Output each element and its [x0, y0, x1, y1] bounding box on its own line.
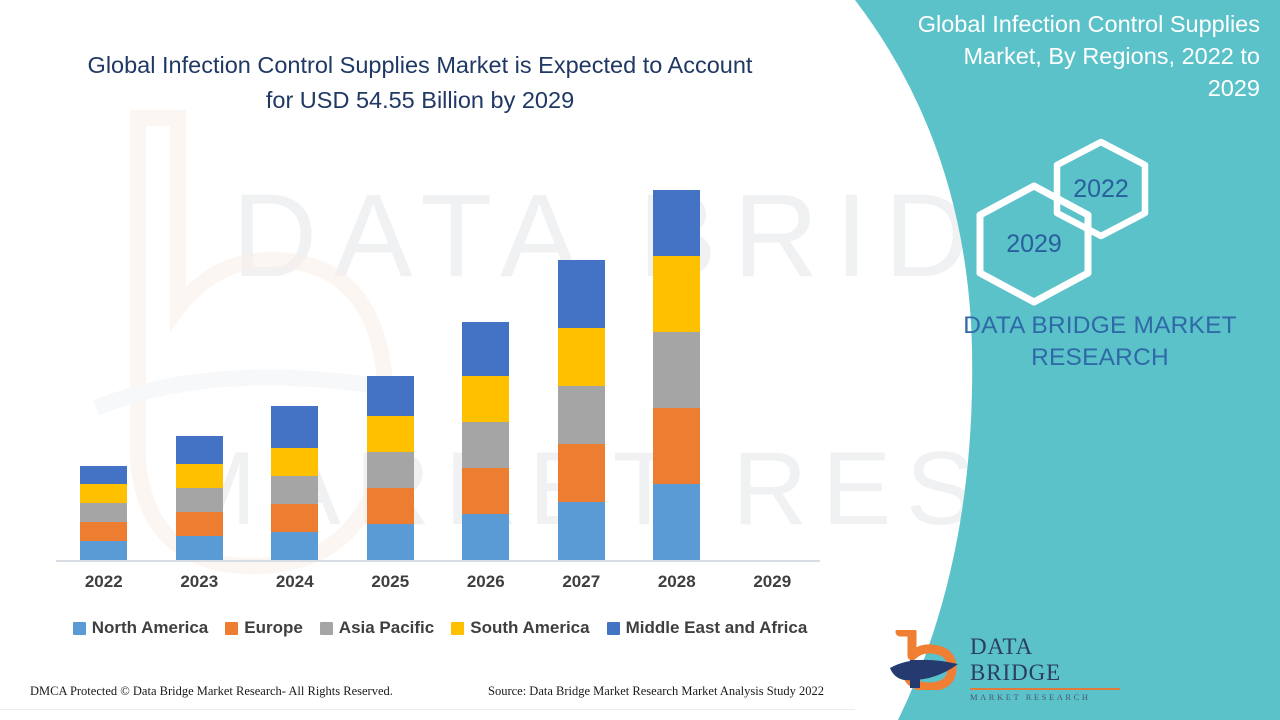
bar-segment: [271, 448, 318, 476]
bar-segment: [558, 386, 605, 444]
legend-swatch-icon: [73, 622, 86, 635]
legend-swatch-icon: [451, 622, 464, 635]
bar-segment: [367, 416, 414, 452]
bar-segment: [462, 514, 509, 560]
logo-name-bottom: MARKET RESEARCH: [970, 692, 1120, 702]
infographic-canvas: DATA BRIDGE MARKET RESEARCH Global Infec…: [0, 0, 1280, 720]
legend-swatch-icon: [320, 622, 333, 635]
bar-segment: [271, 406, 318, 448]
hexagon-badge-start-year: 2022: [1053, 138, 1149, 240]
bar-segment: [176, 512, 223, 536]
bar-column: [367, 376, 414, 560]
footer-divider: [0, 709, 855, 710]
bar-segment: [462, 322, 509, 376]
data-bridge-logo: DATA BRIDGE MARKET RESEARCH: [888, 630, 1118, 692]
brand-name-panel: DATA BRIDGE MARKET RESEARCH: [940, 310, 1260, 374]
bar-segment: [80, 522, 127, 541]
x-axis-label-2022: 2022: [56, 572, 152, 592]
x-axis-label-2024: 2024: [247, 572, 343, 592]
bar-segment: [558, 502, 605, 560]
x-axis-label-2027: 2027: [534, 572, 630, 592]
legend-item[interactable]: Europe: [225, 618, 303, 638]
bar-segment: [80, 484, 127, 503]
legend-label: North America: [92, 618, 209, 638]
bar-column: [80, 466, 127, 560]
chart-title: Global Infection Control Supplies Market…: [80, 48, 760, 118]
stacked-bar-series: [56, 150, 820, 560]
x-axis-line: [56, 560, 820, 562]
bar-segment: [653, 256, 700, 332]
bar-segment: [271, 504, 318, 532]
bar-segment: [558, 328, 605, 386]
logo-b-mark-icon: [888, 630, 962, 690]
bar-segment: [80, 541, 127, 560]
bar-segment: [367, 488, 414, 524]
legend-label: Asia Pacific: [339, 618, 434, 638]
x-axis-label-2029: 2029: [725, 572, 821, 592]
bar-segment: [367, 452, 414, 488]
x-axis-label-2025: 2025: [343, 572, 439, 592]
brand-line-2: RESEARCH: [940, 342, 1260, 374]
logo-name-top: DATA BRIDGE: [970, 634, 1120, 686]
bar-segment: [176, 536, 223, 560]
x-axis-tick-labels: 20222023202420252026202720282029: [56, 572, 820, 602]
bar-segment: [558, 260, 605, 328]
legend-item[interactable]: South America: [451, 618, 589, 638]
x-axis-label-2026: 2026: [438, 572, 534, 592]
x-axis-label-2028: 2028: [629, 572, 725, 592]
bar-segment: [462, 468, 509, 514]
bar-segment: [653, 332, 700, 408]
bar-segment: [176, 464, 223, 488]
bar-segment: [176, 436, 223, 464]
bar-column: [462, 322, 509, 560]
hexagon-badges: 2029 2022: [975, 138, 1190, 288]
logo-wordmark: DATA BRIDGE MARKET RESEARCH: [970, 634, 1120, 702]
bar-segment: [462, 422, 509, 468]
footer-source: Source: Data Bridge Market Research Mark…: [488, 684, 824, 699]
legend-label: Europe: [244, 618, 303, 638]
chart-legend: North AmericaEuropeAsia PacificSouth Ame…: [56, 616, 824, 640]
bar-segment: [80, 503, 127, 522]
bar-segment: [271, 476, 318, 504]
bar-segment: [653, 408, 700, 484]
bar-column: [653, 190, 700, 560]
bar-segment: [271, 532, 318, 560]
bar-segment: [653, 484, 700, 560]
bar-column: [271, 406, 318, 560]
bar-segment: [367, 376, 414, 416]
bar-segment: [80, 466, 127, 484]
legend-label: Middle East and Africa: [626, 618, 808, 638]
bar-segment: [653, 190, 700, 256]
footer-copyright: DMCA Protected © Data Bridge Market Rese…: [30, 684, 393, 699]
bar-column: [176, 436, 223, 560]
bar-segment: [176, 488, 223, 512]
legend-label: South America: [470, 618, 589, 638]
x-axis-label-2023: 2023: [152, 572, 248, 592]
right-panel-title: Global Infection Control Supplies Market…: [905, 8, 1260, 104]
logo-divider: [970, 688, 1120, 690]
legend-swatch-icon: [607, 622, 620, 635]
bar-segment: [367, 524, 414, 560]
bar-segment: [462, 376, 509, 422]
brand-line-1: DATA BRIDGE MARKET: [940, 310, 1260, 342]
hexagon-start-year-label: 2022: [1053, 138, 1149, 240]
legend-item[interactable]: Middle East and Africa: [607, 618, 808, 638]
bar-segment: [558, 444, 605, 502]
legend-item[interactable]: North America: [73, 618, 209, 638]
bar-column: [558, 260, 605, 560]
legend-swatch-icon: [225, 622, 238, 635]
legend-item[interactable]: Asia Pacific: [320, 618, 434, 638]
